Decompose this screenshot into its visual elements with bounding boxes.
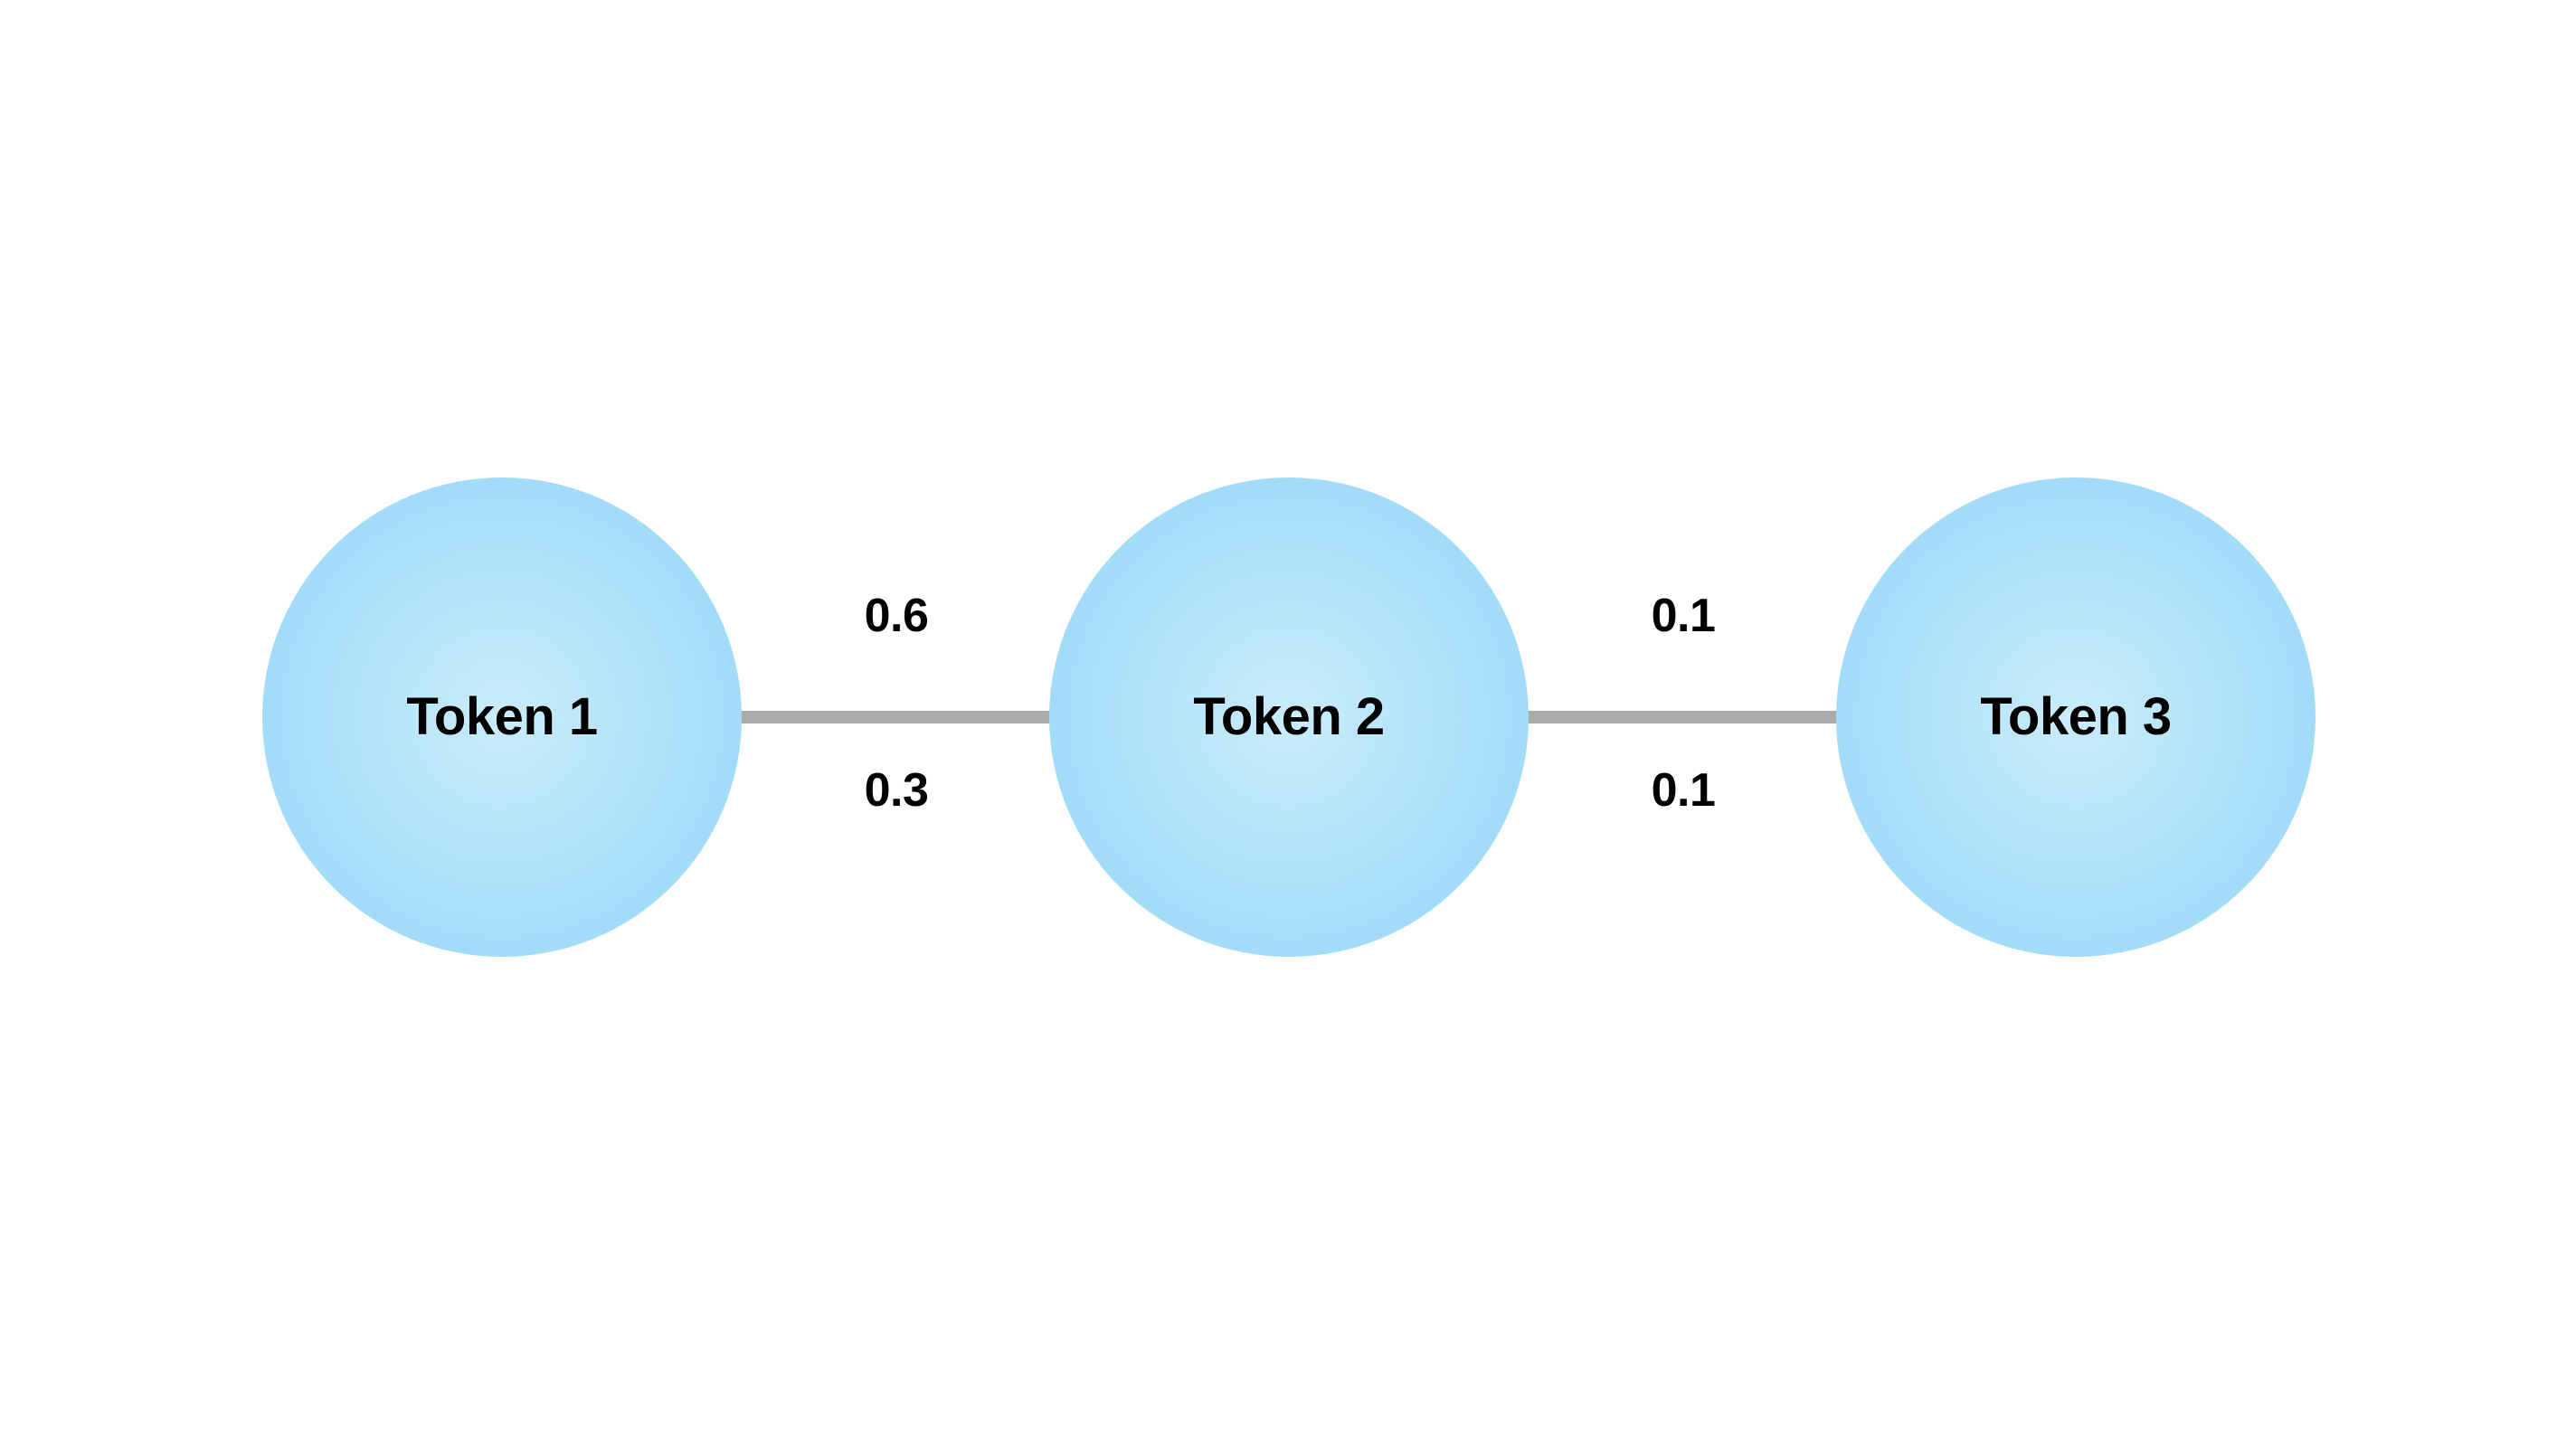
node-token-3[interactable]: Token 3 <box>1836 478 2316 957</box>
node-token-3-label: Token 3 <box>1980 691 2171 743</box>
edge-1-weight-top: 0.6 <box>865 592 929 639</box>
node-token-1-label: Token 1 <box>406 691 597 743</box>
edge-2-weight-bottom: 0.1 <box>1652 767 1716 814</box>
edge-2-weight-top: 0.1 <box>1652 592 1716 639</box>
edge-1-weight-bottom: 0.3 <box>865 767 929 814</box>
node-token-2[interactable]: Token 2 <box>1049 478 1529 957</box>
graph-canvas: 0.6 0.3 0.1 0.1 Token 1 Token 2 Token 3 <box>0 0 2576 1447</box>
edge-token1-token2 <box>733 711 1060 723</box>
node-token-2-label: Token 2 <box>1193 691 1384 743</box>
node-token-1[interactable]: Token 1 <box>262 478 742 957</box>
edge-token2-token3 <box>1520 711 1847 723</box>
